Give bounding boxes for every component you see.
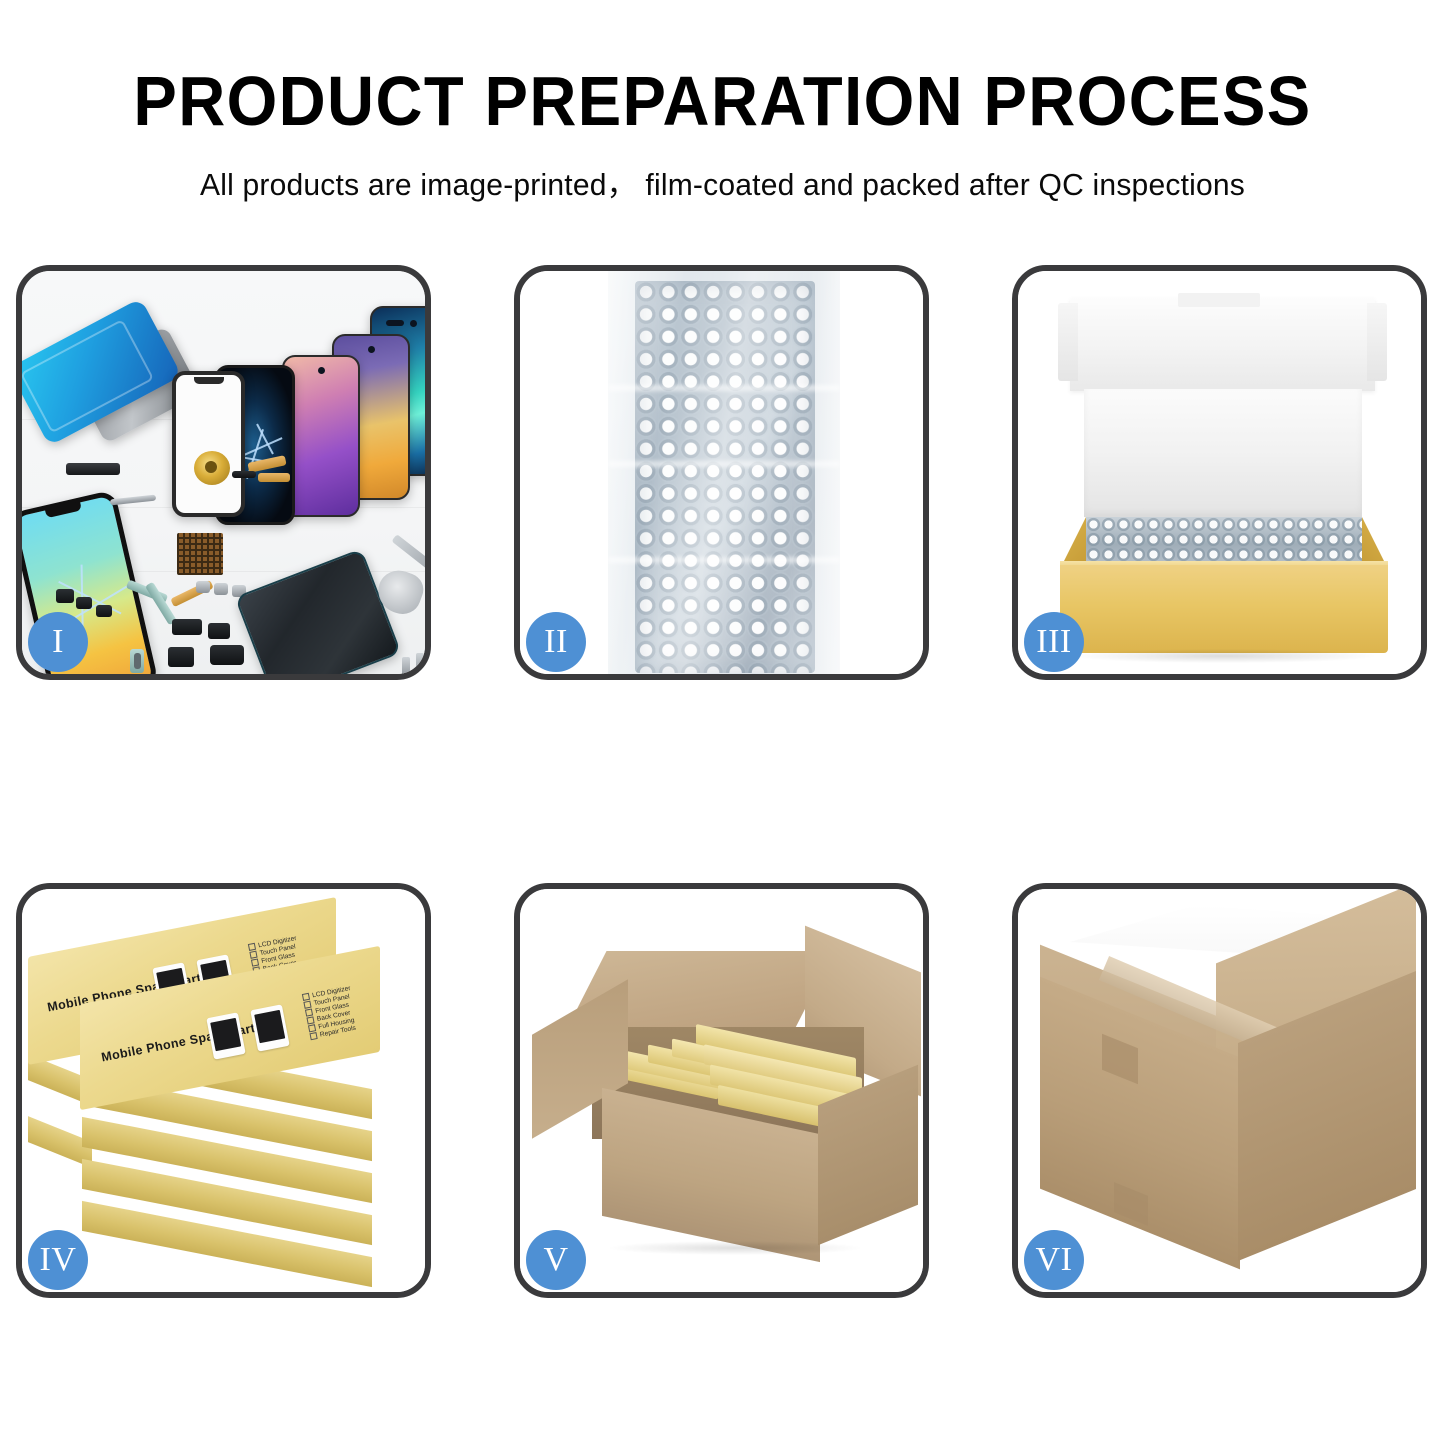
screw-part	[402, 657, 410, 674]
step-badge-4: IV	[28, 1230, 88, 1290]
step-panel-3[interactable]: III	[1012, 265, 1427, 680]
gold-speaker-component	[194, 451, 230, 485]
step-2-image	[520, 271, 923, 674]
screw-part	[416, 653, 424, 674]
camera-module-part	[208, 623, 230, 639]
wrap-sheen	[608, 271, 840, 674]
bubble-wrap-pouch	[608, 271, 840, 674]
small-ic-part	[56, 589, 74, 603]
flex-cable-part	[258, 473, 290, 482]
small-ic-part	[76, 597, 92, 609]
ic-chip-component	[177, 533, 223, 575]
step-panel-6[interactable]: VI	[1012, 883, 1427, 1298]
step-badge-5: V	[526, 1230, 586, 1290]
mailer-box-interior	[1084, 389, 1362, 517]
mailer-box-tab	[1178, 293, 1260, 307]
earpiece-mesh-part	[66, 463, 120, 475]
step-badge-6: VI	[1024, 1230, 1084, 1290]
camera-module-part	[172, 619, 202, 635]
mailer-box-front-panel	[1060, 565, 1388, 653]
step-3-image	[1018, 271, 1421, 674]
small-metal-part	[214, 583, 228, 595]
page-title: PRODUCT PREPARATION PROCESS	[51, 66, 1395, 136]
step-panel-1[interactable]: I	[16, 265, 431, 680]
step-badge-3: III	[1024, 612, 1084, 672]
taptic-engine-part	[210, 645, 244, 665]
page-header: PRODUCT PREPARATION PROCESS All products…	[0, 0, 1445, 204]
step-badge-1: I	[28, 612, 88, 672]
front-glass-lens	[172, 371, 245, 517]
retail-box-checklist: LCD Digitizer Touch Panel Front Glass Ba…	[302, 985, 359, 1042]
mailer-box-lid	[1070, 297, 1375, 391]
step-5-image	[520, 889, 923, 1292]
drop-shadow	[1074, 649, 1374, 663]
small-ic-part	[96, 605, 112, 617]
step-panel-5[interactable]: V	[514, 883, 929, 1298]
step-panel-4[interactable]: Mobile Phone Spare Parts LCD Digitizer T…	[16, 883, 431, 1298]
drop-shadow	[610, 1241, 860, 1255]
step-6-image	[1018, 889, 1421, 1292]
step-badge-2: II	[526, 612, 586, 672]
retail-box: Mobile Phone Spare Parts LCD Digitizer T…	[80, 975, 380, 1081]
step-4-image: Mobile Phone Spare Parts LCD Digitizer T…	[22, 889, 425, 1292]
sim-tray-slot	[134, 653, 141, 669]
connector-part	[232, 471, 256, 478]
page-subtitle: All products are image-printed， film-coa…	[11, 160, 1434, 204]
step-panel-2[interactable]: II	[514, 265, 929, 680]
process-steps-grid: I II III	[16, 265, 1429, 1315]
small-metal-part	[196, 581, 210, 593]
step-1-image	[22, 271, 425, 674]
vibration-motor-part	[168, 647, 194, 667]
